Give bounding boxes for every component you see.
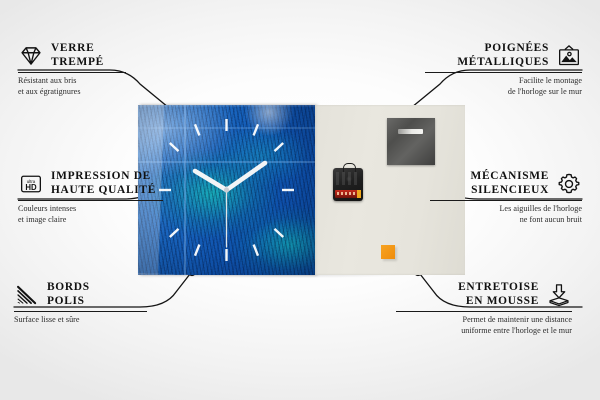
feature-header: ENTRETOISE EN MOUSSE bbox=[372, 281, 572, 309]
feature-header: POIGNÉES MÉTALLIQUES bbox=[382, 42, 582, 70]
feature-subtitle: Surface lisse et sûre bbox=[14, 315, 214, 326]
feature-title: VERRE TREMPÉ bbox=[51, 42, 104, 70]
feature-divider bbox=[430, 200, 582, 201]
feature-entretoise-en-mousse: ENTRETOISE EN MOUSSE Permet de maintenir… bbox=[372, 281, 572, 336]
feature-title: IMPRESSION DE HAUTE QUALITÉ bbox=[51, 170, 156, 198]
feature-subtitle-line2: ne font aucun bruit bbox=[382, 215, 582, 226]
mechanism-detail bbox=[336, 172, 360, 185]
mechanism-hanging-loop bbox=[343, 163, 356, 172]
gear-icon bbox=[556, 171, 582, 197]
feature-divider bbox=[18, 200, 163, 201]
feature-bords-polis: BORDS POLIS Surface lisse et sûre bbox=[14, 281, 214, 326]
feature-divider bbox=[14, 311, 147, 312]
feature-subtitle-line1: Facilite le montage bbox=[382, 76, 582, 87]
feature-title-line1: VERRE bbox=[51, 42, 104, 56]
feature-subtitle-line1: Surface lisse et sûre bbox=[14, 315, 214, 326]
feature-impression-haute-qualite: ultra HD IMPRESSION DE HAUTE QUALITÉ Cou… bbox=[18, 170, 218, 225]
feature-subtitle-line1: Les aiguilles de l'horloge bbox=[382, 204, 582, 215]
feature-subtitle: Les aiguilles de l'horloge ne font aucun… bbox=[382, 204, 582, 226]
feature-verre-trempe: VERRE TREMPÉ Résistant aux bris et aux é… bbox=[18, 42, 218, 97]
feature-divider bbox=[396, 311, 572, 312]
feature-subtitle-line2: uniforme entre l'horloge et le mur bbox=[372, 326, 572, 337]
feature-poignees-metalliques: POIGNÉES MÉTALLIQUES Facilite le montage… bbox=[382, 42, 582, 97]
feature-title: ENTRETOISE EN MOUSSE bbox=[458, 281, 539, 309]
battery-label bbox=[337, 192, 355, 195]
feature-divider bbox=[425, 72, 582, 73]
feature-subtitle-line1: Permet de maintenir une distance bbox=[372, 315, 572, 326]
feature-title: BORDS POLIS bbox=[47, 281, 90, 309]
ultra-hd-icon: ultra HD bbox=[18, 171, 44, 197]
feature-subtitle: Résistant aux bris et aux égratignures bbox=[18, 76, 218, 98]
feature-title-line1: IMPRESSION DE bbox=[51, 170, 156, 184]
foam-spacer bbox=[381, 245, 395, 259]
feature-title-line1: POIGNÉES bbox=[457, 42, 549, 56]
foam-spacer-icon bbox=[546, 282, 572, 308]
feature-title-line2: TREMPÉ bbox=[51, 56, 104, 70]
feature-subtitle-line1: Couleurs intenses bbox=[18, 204, 218, 215]
feature-divider bbox=[18, 72, 126, 73]
feature-title: POIGNÉES MÉTALLIQUES bbox=[457, 42, 549, 70]
feature-subtitle: Facilite le montage de l'horloge sur le … bbox=[382, 76, 582, 98]
minute-hand bbox=[227, 163, 266, 190]
feature-title-line2: HAUTE QUALITÉ bbox=[51, 184, 156, 198]
feature-title-line2: SILENCIEUX bbox=[471, 184, 549, 198]
feature-subtitle-line2: de l'horloge sur le mur bbox=[382, 87, 582, 98]
clock-center-pin bbox=[224, 187, 229, 192]
hanger-slot bbox=[398, 129, 423, 134]
battery bbox=[335, 190, 361, 198]
hanger-plate bbox=[387, 118, 435, 165]
clock-mechanism bbox=[333, 168, 363, 201]
feature-title-line2: POLIS bbox=[47, 295, 90, 309]
diamond-icon bbox=[18, 43, 44, 69]
infographic-canvas: VERRE TREMPÉ Résistant aux bris et aux é… bbox=[0, 0, 600, 400]
feature-title-line1: ENTRETOISE bbox=[458, 281, 539, 295]
feature-subtitle: Permet de maintenir une distance uniform… bbox=[372, 315, 572, 337]
feature-header: BORDS POLIS bbox=[14, 281, 214, 309]
feature-mecanisme-silencieux: MÉCANISME SILENCIEUX Les aiguilles de l'… bbox=[382, 170, 582, 225]
feature-title-line1: MÉCANISME bbox=[471, 170, 549, 184]
ultra-hd-icon-large-text: HD bbox=[25, 183, 37, 192]
battery-positive-terminal bbox=[357, 190, 361, 198]
feature-header: VERRE TREMPÉ bbox=[18, 42, 218, 70]
feature-title-line2: EN MOUSSE bbox=[458, 295, 539, 309]
polished-edges-icon bbox=[14, 282, 40, 308]
feature-header: MÉCANISME SILENCIEUX bbox=[382, 170, 582, 198]
feature-subtitle-line2: et aux égratignures bbox=[18, 87, 218, 98]
feature-subtitle-line2: et image claire bbox=[18, 215, 218, 226]
feature-subtitle: Couleurs intenses et image claire bbox=[18, 204, 218, 226]
picture-frame-hanger-icon bbox=[556, 43, 582, 69]
feature-header: ultra HD IMPRESSION DE HAUTE QUALITÉ bbox=[18, 170, 218, 198]
feature-title: MÉCANISME SILENCIEUX bbox=[471, 170, 549, 198]
feature-title-line2: MÉTALLIQUES bbox=[457, 56, 549, 70]
feature-subtitle-line1: Résistant aux bris bbox=[18, 76, 218, 87]
feature-title-line1: BORDS bbox=[47, 281, 90, 295]
